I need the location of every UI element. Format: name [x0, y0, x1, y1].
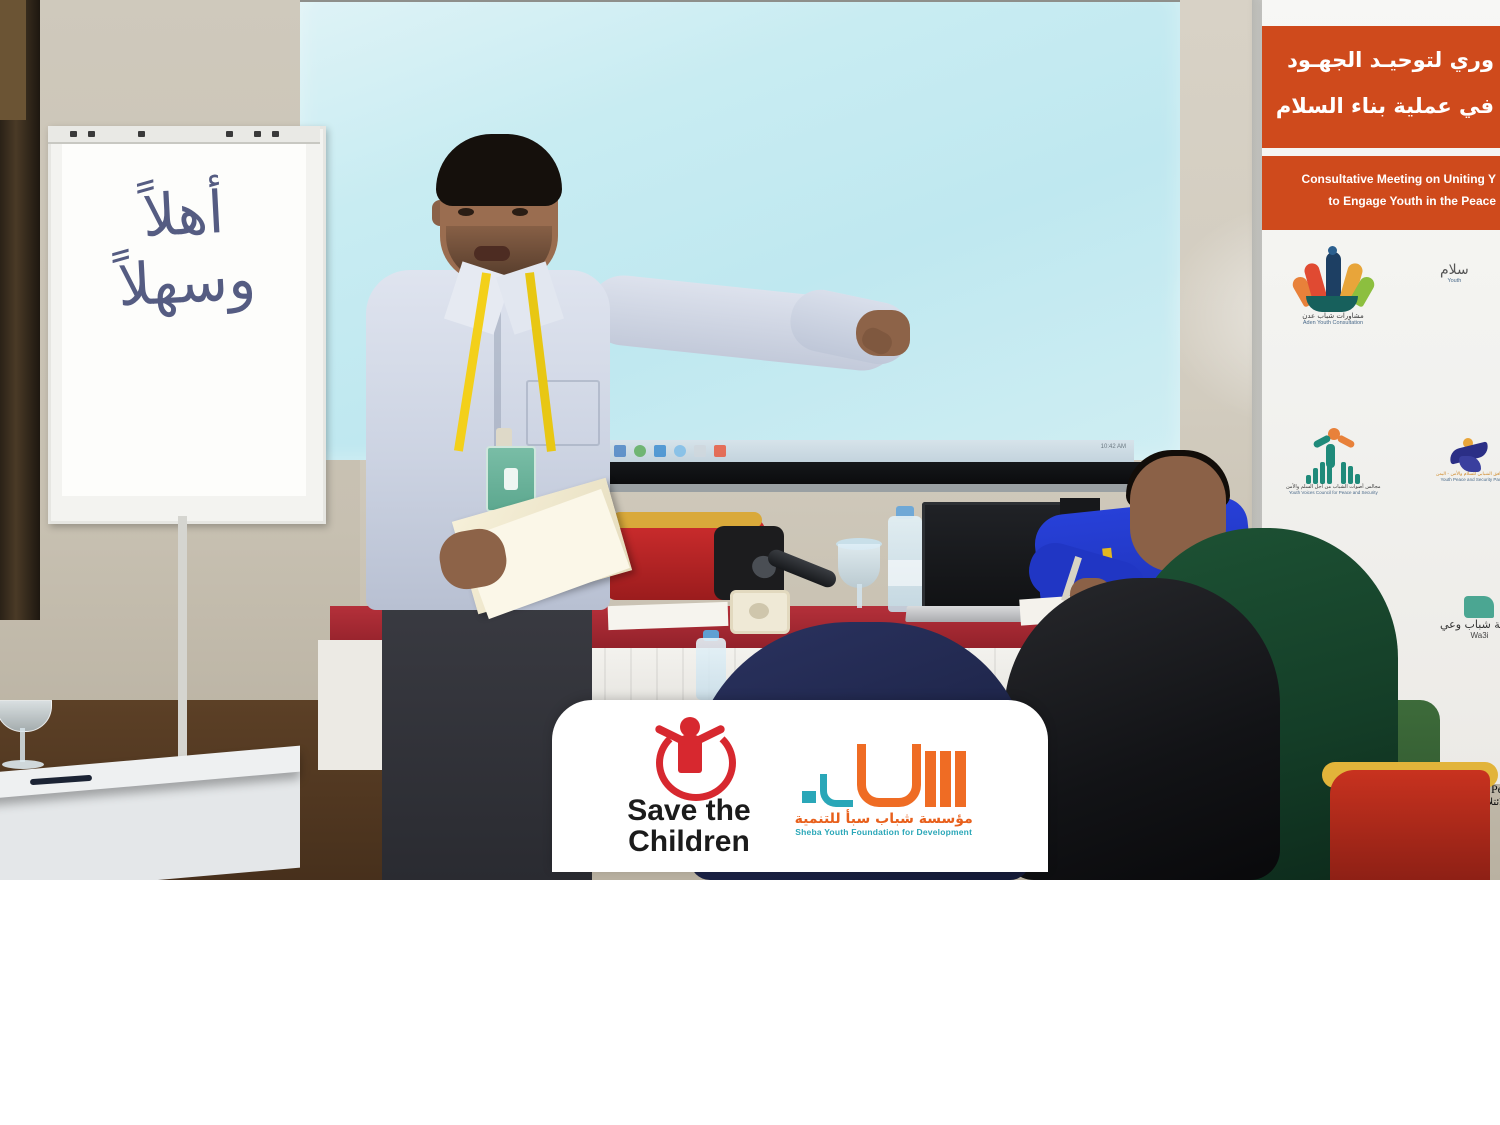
projection-screen-bottom-frame: [548, 462, 1148, 484]
banner-logo-yps: التوافق الشبابي للسلام والأمن - اليمن Yo…: [1436, 438, 1500, 482]
save-the-children-mark-icon: [648, 715, 730, 789]
glass-bowl: [0, 700, 52, 732]
papers-on-table: [608, 602, 729, 630]
taskbar-icon-7: [694, 445, 706, 457]
glass-stem: [20, 728, 25, 762]
banner-logo-youth-voices-caption-en: Youth Voices Council for Peace and Secur…: [1289, 490, 1378, 495]
banner-logo-aden-caption-ar: مشاورات شباب عدن: [1302, 312, 1364, 320]
event-photograph: 10:42 AM أهلاً وسهلاً: [0, 0, 1500, 880]
banner-logo-youth-caption-en: Youth: [1447, 278, 1461, 284]
banner-logo-aden-caption-en: Aden Youth Consultation: [1303, 320, 1363, 326]
banner-logo-aden-youth: مشاورات شباب عدن Aden Youth Consultation: [1300, 248, 1366, 326]
banner-logo-wa3i-caption-en: Wa3i: [1471, 631, 1489, 640]
screenshot-root: 10:42 AM أهلاً وسهلاً: [0, 0, 1500, 1125]
banner-orange-block-arabic: وري لتوحيـد الجهـود في عملية بناء السلام: [1262, 26, 1500, 148]
banner-arabic-line-2: في عملية بناء السلام: [1276, 94, 1494, 118]
taskbar-icon-4: [634, 445, 646, 457]
windows-taskbar: 10:42 AM: [560, 440, 1134, 462]
banner-logo-youth-voices: مجالس أصوات الشباب من أجل السلم والأمن Y…: [1286, 428, 1381, 495]
banner-logo-yps-caption-en: Youth Peace and Security Pact: [1440, 477, 1500, 482]
taskbar-icon-3: [614, 445, 626, 457]
save-the-children-logo: Save the Children: [627, 715, 750, 857]
door-frame-upper: [0, 0, 26, 120]
sheba-wordmark-icon: [802, 735, 966, 807]
aden-youth-icon: [1300, 248, 1366, 312]
taskbar-icon-6: [674, 445, 686, 457]
banner-logo-youth-platform: سلام Youth: [1440, 262, 1469, 284]
speaker-eye-left: [458, 208, 474, 216]
banner-logo-wa3i: منصة شباب وعي Wa3i: [1440, 596, 1500, 640]
inverted-wine-glass: [836, 524, 882, 610]
wine-glass-stem: [857, 584, 862, 608]
sheba-arabic-caption: مؤسسة شباب سبأ للتنمية: [795, 811, 973, 827]
taskbar-icon-8: [714, 445, 726, 457]
sheba-english-caption: Sheba Youth Foundation for Development: [795, 827, 972, 837]
speaker-mouth: [474, 246, 510, 261]
wa3i-shape-icon: [1464, 596, 1494, 618]
taskbar-icon-5: [654, 445, 666, 457]
speaker-shirt-pocket: [526, 380, 600, 446]
footer-bar: اللقاء التشاوري لتوحيد الجهود لإشراك الش…: [0, 880, 1500, 1125]
sheba-youth-foundation-logo: مؤسسة شباب سبأ للتنمية Sheba Youth Found…: [795, 735, 973, 837]
banner-arabic-line-1: وري لتوحيـد الجهـود: [1287, 48, 1494, 72]
flipchart-clip-bar: [48, 126, 320, 144]
save-the-children-line-2: Children: [628, 826, 750, 857]
yps-bird-icon: [1449, 438, 1493, 472]
glass-base: [2, 760, 44, 769]
wine-glass-bowl: [838, 544, 880, 588]
water-bottle-label: [888, 560, 922, 586]
foreground-red-chair: [1330, 770, 1490, 880]
sponsor-logo-card: Save the Children مؤسسة شباب سبأ للتنمية…: [552, 700, 1048, 872]
speaker-eye-right: [512, 208, 528, 216]
tape-roll: [730, 590, 790, 634]
flipchart-handwriting: أهلاً وسهلاً: [67, 174, 304, 322]
banner-orange-block-english: Consultative Meeting on Uniting Y to Eng…: [1262, 156, 1500, 230]
banner-english-line-2: to Engage Youth in the Peace: [1328, 192, 1496, 211]
banner-english-line-1: Consultative Meeting on Uniting Y: [1302, 170, 1496, 189]
taskbar-clock: 10:42 AM: [1101, 444, 1126, 451]
youth-voices-figure-icon: [1311, 428, 1355, 468]
projection-screen-ledge: [548, 484, 1148, 492]
projection-screen-top-bar: [300, 0, 1180, 2]
banner-logo-youth-caption-ar: سلام: [1440, 262, 1469, 278]
banner-logo-wa3i-caption-ar: منصة شباب وعي: [1440, 618, 1500, 631]
inverted-glass-left: [0, 700, 54, 786]
